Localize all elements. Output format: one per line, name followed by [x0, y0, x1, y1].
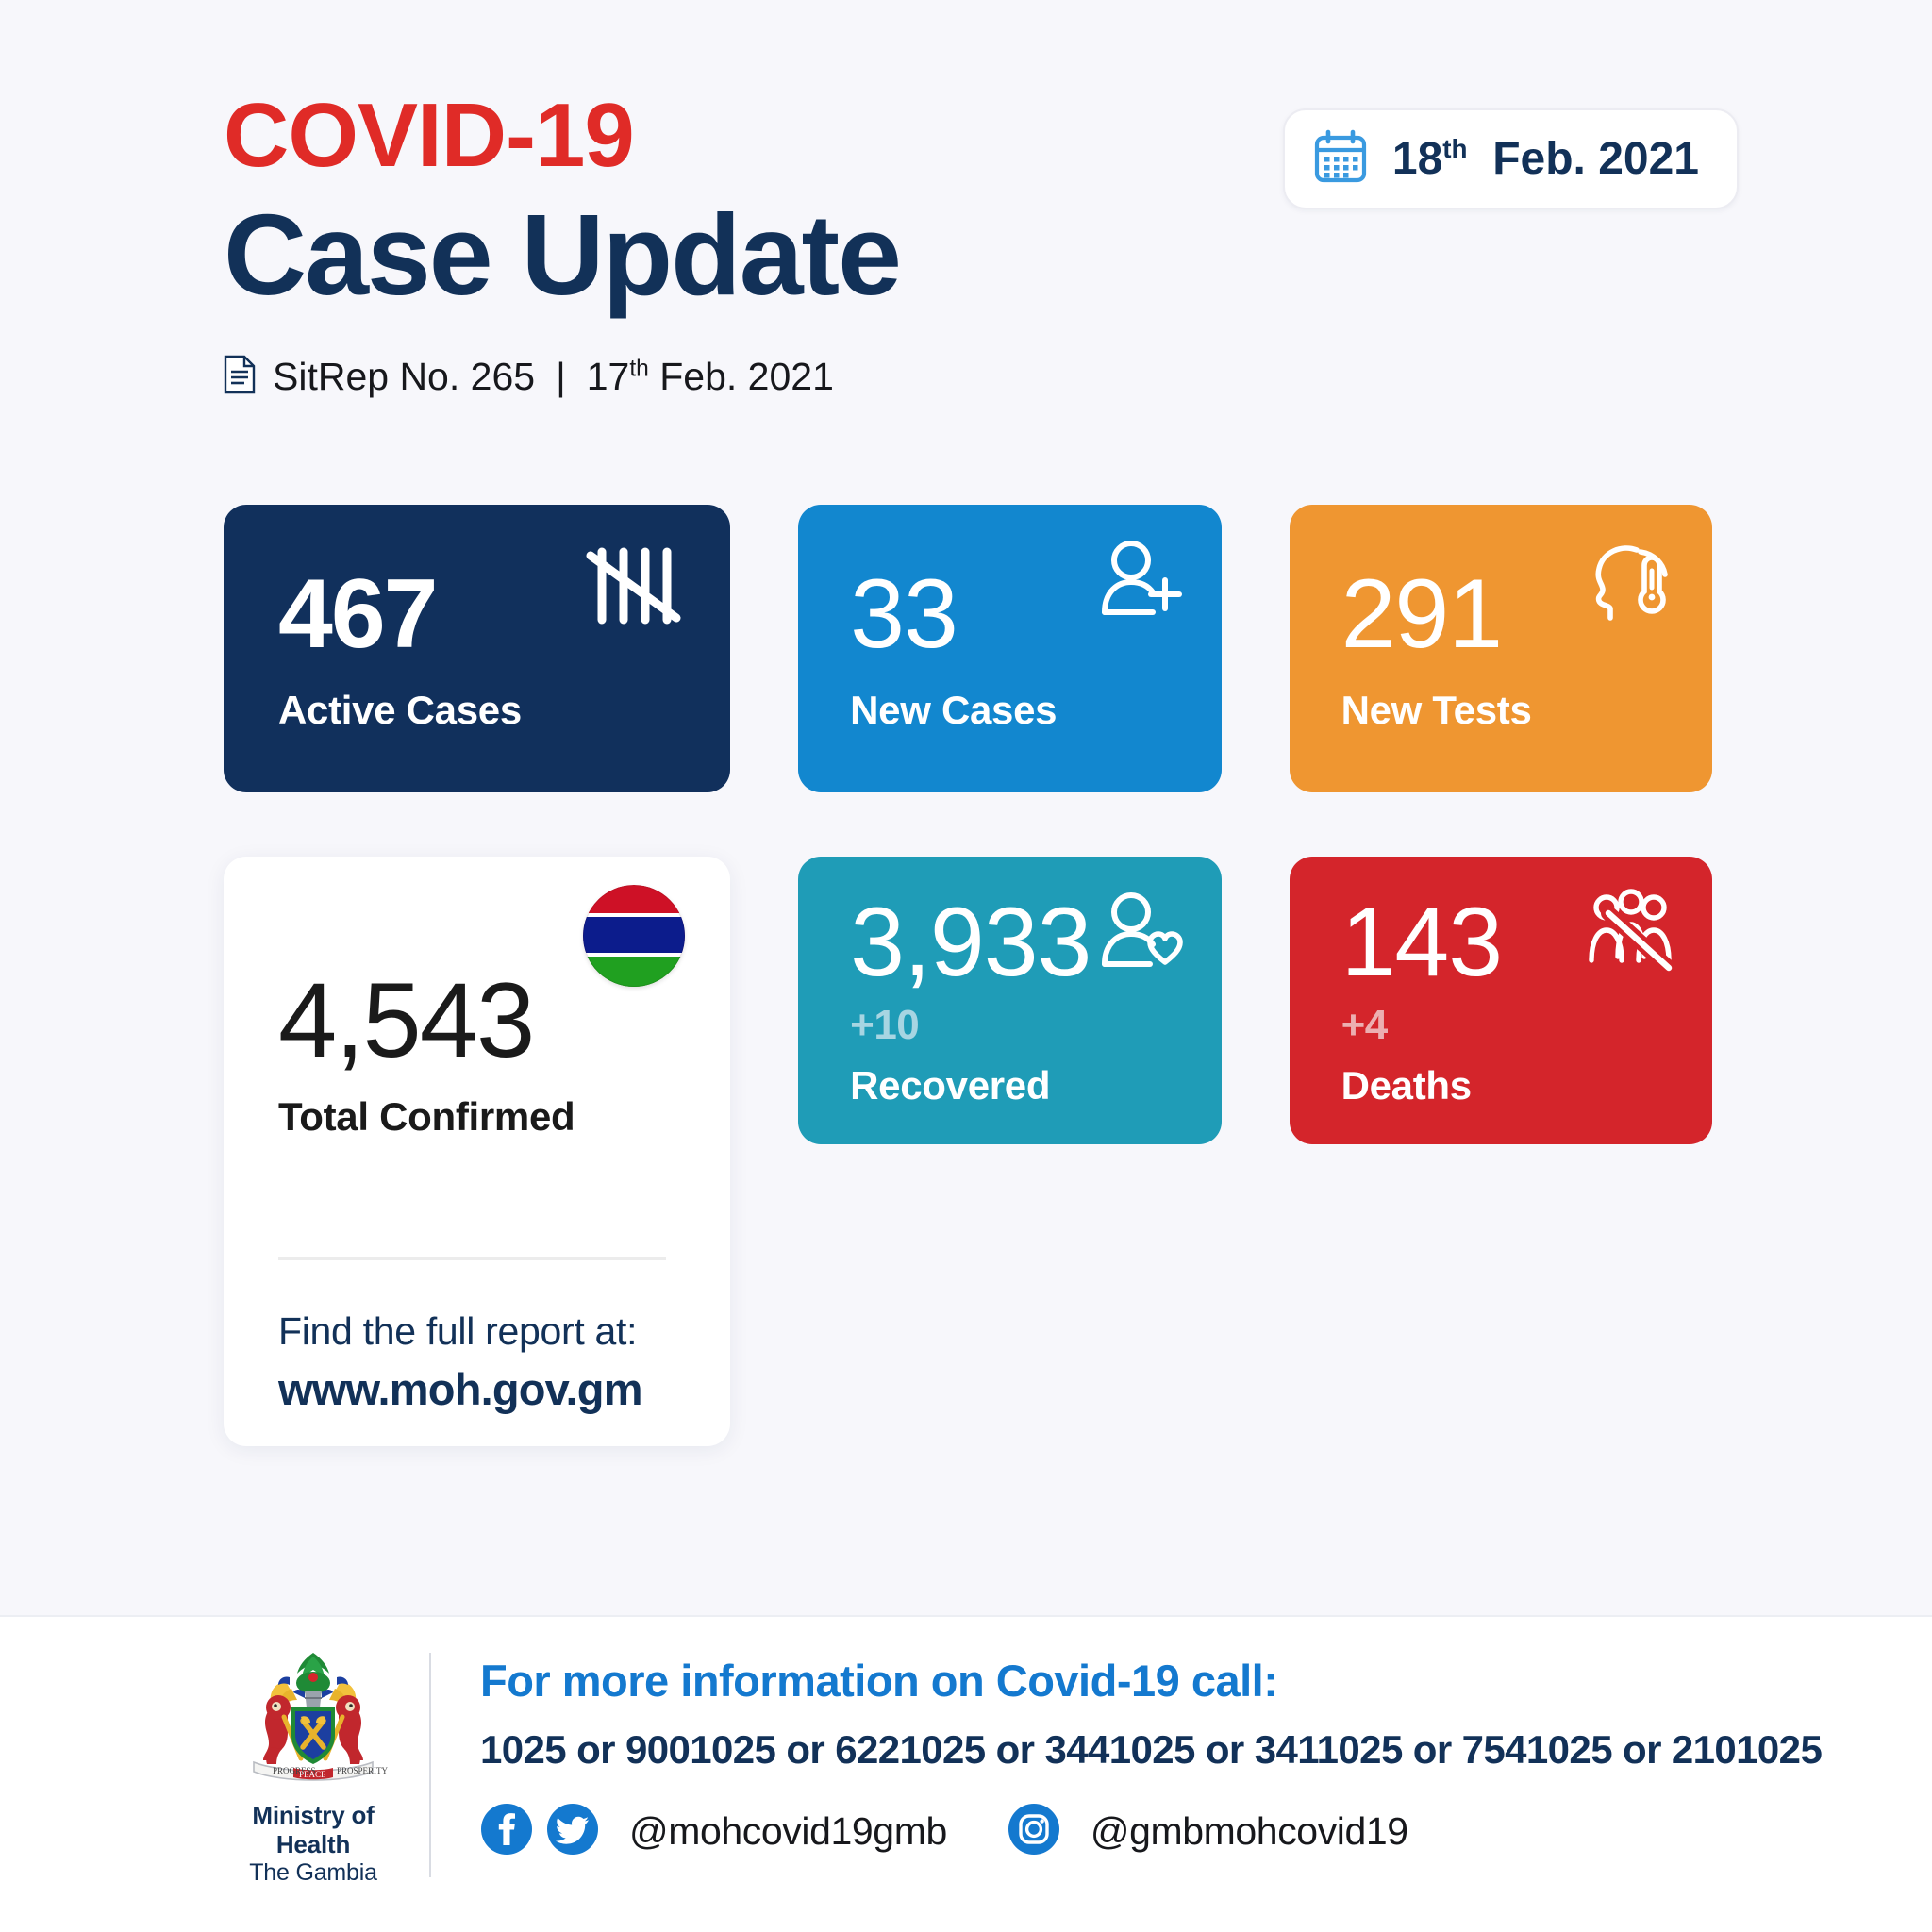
gambia-coat-of-arms-icon: PROGRESS PEACE PROSPERITY	[224, 1778, 403, 1794]
call-numbers: 1025 or 9001025 or 6221025 or 3441025 or…	[480, 1727, 1822, 1773]
instagram-group: @gmbmohcovid19	[1008, 1803, 1408, 1860]
footer-inner: PROGRESS PEACE PROSPERITY Ministry of He…	[224, 1649, 1822, 1887]
calendar-icon	[1313, 129, 1368, 189]
deaths-delta: +4	[1341, 1005, 1712, 1046]
stats-grid: 467 Active Cases 33 New C	[224, 505, 1712, 1446]
card-active-cases-body: 467 Active Cases	[278, 505, 730, 792]
date-badge-text: 18th Feb. 2021	[1392, 133, 1699, 185]
ministry-country: The Gambia	[224, 1859, 403, 1887]
date-ordinal: th	[1442, 134, 1467, 163]
new-cases-value: 33	[850, 565, 1221, 663]
date-day: 18	[1392, 134, 1442, 184]
ministry-name: Ministry of Health	[224, 1801, 403, 1859]
card-divider	[278, 1257, 666, 1260]
active-cases-label: Active Cases	[278, 688, 730, 733]
new-tests-value: 291	[1341, 565, 1712, 663]
card-recovered-body: 3,933 +10 Recovered	[850, 857, 1221, 1144]
sitrep-number: SitRep No. 265	[273, 355, 535, 398]
page-title: Case Update	[224, 194, 900, 315]
stats-row-bottom: 4,543 Total Confirmed Find the full repo…	[224, 857, 1712, 1446]
deaths-label: Deaths	[1341, 1063, 1712, 1108]
fb-twitter-handle[interactable]: @mohcovid19gmb	[629, 1809, 947, 1854]
date-badge: 18th Feb. 2021	[1283, 108, 1739, 209]
svg-text:PEACE: PEACE	[299, 1770, 326, 1779]
recovered-label: Recovered	[850, 1063, 1221, 1108]
instagram-icon[interactable]	[1008, 1803, 1060, 1860]
twitter-icon[interactable]	[546, 1803, 599, 1860]
facebook-icon[interactable]	[480, 1803, 533, 1860]
card-new-cases: 33 New Cases	[798, 505, 1221, 792]
header: COVID-19 Case Update SitRep No. 265|17th…	[224, 91, 900, 399]
footer-contact-block: For more information on Covid-19 call: 1…	[431, 1649, 1822, 1860]
social-row: @mohcovid19gmb @gmbmohcovid19	[480, 1803, 1822, 1860]
date-month-year: Feb. 2021	[1492, 134, 1699, 184]
call-heading: For more information on Covid-19 call:	[480, 1655, 1822, 1707]
svg-text:PROSPERITY: PROSPERITY	[337, 1766, 389, 1775]
card-new-tests-body: 291 New Tests	[1341, 505, 1712, 792]
sitrep-date-day: 17	[587, 355, 630, 398]
card-total-confirmed: 4,543 Total Confirmed Find the full repo…	[224, 857, 730, 1446]
card-new-cases-body: 33 New Cases	[850, 505, 1221, 792]
sitrep-separator: |	[556, 355, 566, 398]
new-tests-label: New Tests	[1341, 688, 1712, 733]
instagram-handle[interactable]: @gmbmohcovid19	[1091, 1809, 1408, 1854]
recovered-delta: +10	[850, 1005, 1221, 1046]
card-deaths: 143 +4 Deaths	[1290, 857, 1712, 1144]
new-cases-label: New Cases	[850, 688, 1221, 733]
report-website-link[interactable]: www.moh.gov.gm	[278, 1363, 642, 1415]
document-icon	[224, 355, 256, 399]
total-confirmed-label: Total Confirmed	[278, 1094, 683, 1140]
stats-row-top: 467 Active Cases 33 New C	[224, 505, 1712, 792]
sitrep-date-ordinal: th	[629, 356, 649, 381]
report-link-block: Find the full report at: www.moh.gov.gm	[278, 1309, 642, 1415]
find-report-text: Find the full report at:	[278, 1309, 642, 1354]
sitrep-line: SitRep No. 265|17th Feb. 2021	[273, 355, 834, 399]
ministry-logo-block: PROGRESS PEACE PROSPERITY Ministry of He…	[224, 1649, 429, 1887]
total-confirmed-value: 4,543	[278, 968, 683, 1074]
card-new-tests: 291 New Tests	[1290, 505, 1712, 792]
recovered-value: 3,933	[850, 893, 1221, 991]
sitrep-date-rest: Feb. 2021	[659, 355, 834, 398]
card-active-cases: 467 Active Cases	[224, 505, 730, 792]
total-confirmed-body: 4,543 Total Confirmed	[278, 968, 683, 1140]
covid-title: COVID-19	[224, 91, 900, 181]
deaths-value: 143	[1341, 893, 1712, 991]
sitrep-row: SitRep No. 265|17th Feb. 2021	[224, 355, 900, 399]
card-recovered: 3,933 +10 Recovered	[798, 857, 1221, 1144]
footer: PROGRESS PEACE PROSPERITY Ministry of He…	[0, 1615, 1932, 1932]
card-deaths-body: 143 +4 Deaths	[1341, 857, 1712, 1144]
covid-case-update-infographic: COVID-19 Case Update SitRep No. 265|17th…	[0, 0, 1932, 1932]
active-cases-value: 467	[278, 565, 730, 663]
facebook-twitter-group: @mohcovid19gmb	[480, 1803, 947, 1860]
